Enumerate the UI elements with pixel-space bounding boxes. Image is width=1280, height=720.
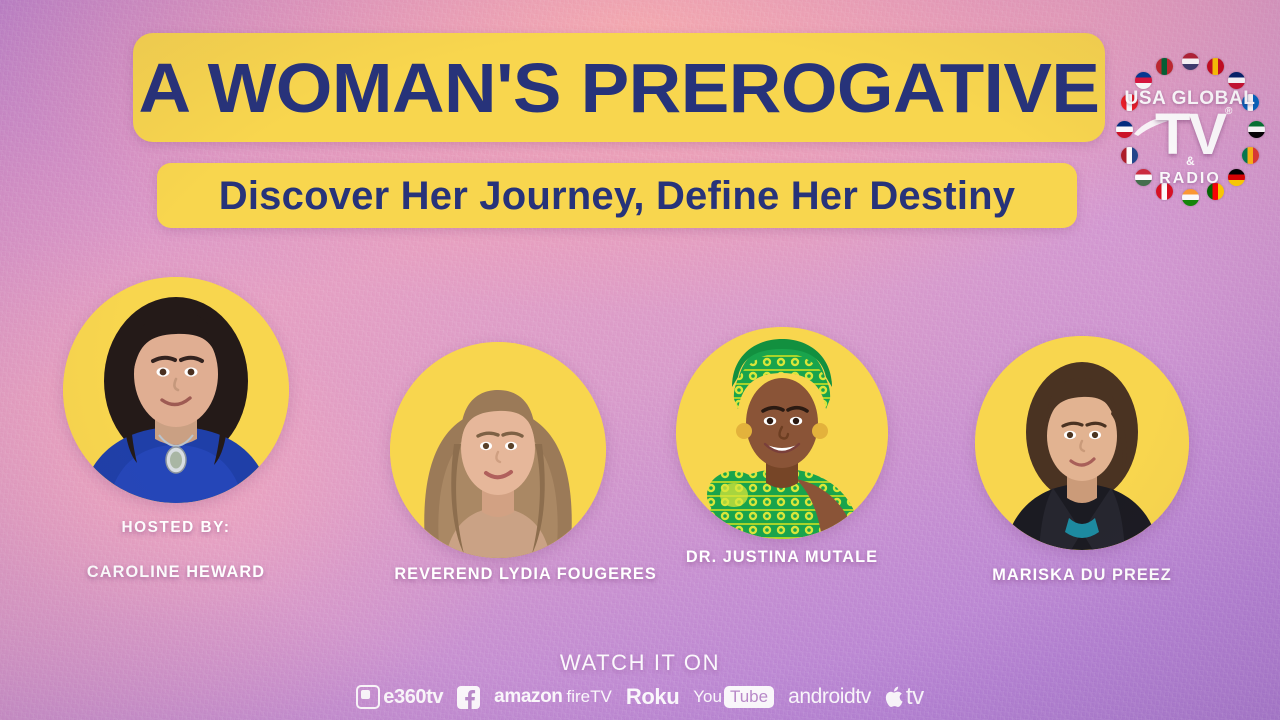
speaker-card-3: MARISKA DU PREEZ: [975, 336, 1189, 550]
platform-androidtv[interactable]: androidtv: [788, 685, 871, 709]
watch-it-on-label: WATCH IT ON: [0, 650, 1280, 676]
logo-ampersand: &: [1186, 154, 1195, 168]
page-subtitle: Discover Her Journey, Define Her Destiny: [219, 176, 1015, 216]
flag-india: [1182, 189, 1199, 206]
platform-facebook[interactable]: [457, 686, 480, 709]
e360tv-label: e360tv: [383, 686, 443, 709]
portrait-illustration-lydia-fougeres: [390, 342, 606, 558]
platform-amazon-fire-tv[interactable]: amazon fireTV: [494, 686, 612, 708]
youtube-you-label: You: [693, 687, 722, 707]
platform-appletv[interactable]: tv: [885, 683, 924, 711]
logo-radio-text: RADIO: [1108, 170, 1272, 188]
platform-logos: e360tv amazon fireTV Roku You Tube andro…: [0, 679, 1280, 715]
portrait-illustration-caroline-heward: [63, 277, 289, 503]
avatar: [390, 342, 606, 558]
flag-nepal: [1135, 72, 1152, 89]
speaker-name-3: MARISKA DU PREEZ: [979, 565, 1184, 585]
speaker-card-1: REVEREND LYDIA FOUGERES: [390, 342, 606, 558]
speaker-name-0: CAROLINE HEWARD: [68, 562, 285, 582]
speaker-name-2: DR. JUSTINA MUTALE: [680, 547, 884, 567]
avatar: [63, 277, 289, 503]
logo-trademark: ®: [1225, 106, 1232, 117]
youtube-icon: Tube: [724, 686, 774, 708]
subtitle-banner: Discover Her Journey, Define Her Destiny: [157, 163, 1077, 228]
firetv-label: fireTV: [567, 687, 612, 707]
amazon-label: amazon: [494, 686, 562, 708]
usa-global-tv-logo: USA GLOBAL TV ® & RADIO: [1108, 44, 1272, 214]
flag-morocco: [1156, 58, 1173, 75]
facebook-icon: [457, 686, 480, 709]
apple-icon: [885, 686, 904, 708]
speaker-name-1: REVEREND LYDIA FOUGERES: [394, 564, 601, 584]
portrait-illustration-mariska-du-preez: [975, 336, 1189, 550]
portrait-illustration-justina-mutale: [676, 327, 888, 539]
hosted-by-label: HOSTED BY:: [82, 519, 270, 537]
title-banner: A WOMAN'S PREROGATIVE: [133, 33, 1105, 142]
page-title: A WOMAN'S PREROGATIVE: [139, 53, 1100, 123]
flag-usa: [1182, 53, 1199, 70]
flag-uk: [1228, 72, 1245, 89]
flag-spain: [1207, 58, 1224, 75]
youtube-tube-label: Tube: [730, 687, 768, 706]
platform-e360tv[interactable]: e360tv: [356, 685, 443, 709]
speaker-card-0: CAROLINE HEWARD: [63, 277, 289, 503]
roku-label: Roku: [626, 684, 679, 710]
speaker-card-2: DR. JUSTINA MUTALE: [676, 327, 888, 539]
appletv-label: tv: [906, 683, 924, 711]
avatar: [676, 327, 888, 539]
poster-canvas: A WOMAN'S PREROGATIVE Discover Her Journ…: [0, 0, 1280, 720]
androidtv-label: androidtv: [788, 685, 871, 709]
avatar: [975, 336, 1189, 550]
e360tv-icon: [356, 685, 380, 709]
platform-roku[interactable]: Roku: [626, 684, 679, 710]
platform-youtube[interactable]: You Tube: [693, 686, 774, 708]
